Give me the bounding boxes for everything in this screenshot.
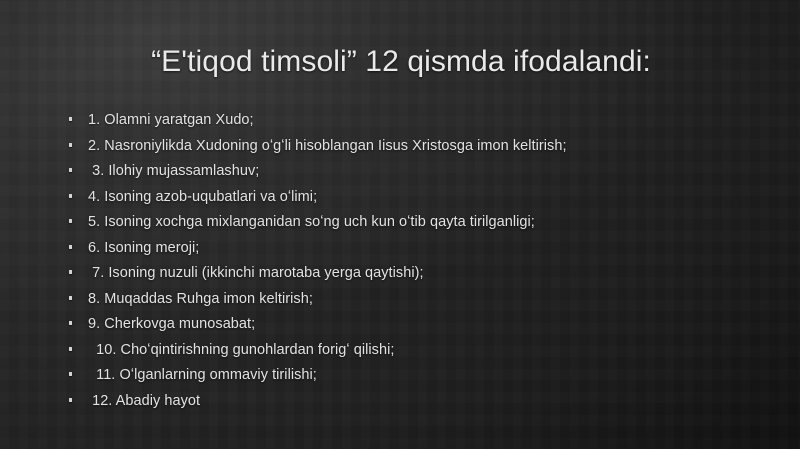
list-item-text: 6. Isoning meroji; — [88, 236, 199, 262]
list-item: 6. Isoning meroji; — [60, 236, 774, 262]
square-bullet-icon — [69, 270, 72, 274]
square-bullet-icon — [69, 194, 72, 198]
square-bullet-icon — [69, 245, 72, 249]
list-item-text: 11. Oʻlganlarning ommaviy tirilishi; — [88, 363, 317, 389]
list-item-text: 5. Isoning xochga mixlanganidan soʻng uc… — [88, 210, 535, 236]
list-item: 9. Cherkovga munosabat; — [60, 312, 774, 338]
list-item-text: 1. Olamni yaratgan Xudo; — [88, 108, 254, 134]
square-bullet-icon — [69, 321, 72, 325]
slide-title: “E'tiqod timsoli” 12 qismda ifodalandi: — [56, 44, 746, 79]
list-item-text: 2. Nasroniylikda Xudoning oʻgʻli hisobla… — [88, 134, 567, 160]
list-item: 5. Isoning xochga mixlanganidan soʻng uc… — [60, 210, 774, 236]
list-item: 8. Muqaddas Ruhga imon keltirish; — [60, 287, 774, 313]
square-bullet-icon — [69, 117, 72, 121]
list-item: 1. Olamni yaratgan Xudo; — [60, 108, 774, 134]
square-bullet-icon — [69, 219, 72, 223]
list-item-text: 4. Isoning azob-uqubatlari va oʻlimi; — [88, 185, 317, 211]
presentation-slide: “E'tiqod timsoli” 12 qismda ifodalandi: … — [0, 0, 800, 449]
square-bullet-icon — [69, 168, 72, 172]
list-item: 7. Isoning nuzuli (ikkinchi marotaba yer… — [60, 261, 774, 287]
list-item: 3. Ilohiy mujassamlashuv; — [60, 159, 774, 185]
list-item: 12. Abadiy hayot — [60, 389, 774, 415]
list-item-text: 3. Ilohiy mujassamlashuv; — [88, 159, 259, 185]
square-bullet-icon — [69, 347, 72, 351]
list-item: 2. Nasroniylikda Xudoning oʻgʻli hisobla… — [60, 134, 774, 160]
slide-bullet-list: 1. Olamni yaratgan Xudo; 2. Nasroniylikd… — [60, 108, 774, 414]
list-item: 4. Isoning azob-uqubatlari va oʻlimi; — [60, 185, 774, 211]
list-item: 10. Choʻqintirishning gunohlardan forigʻ… — [60, 338, 774, 364]
square-bullet-icon — [69, 296, 72, 300]
list-item-text: 10. Choʻqintirishning gunohlardan forigʻ… — [88, 338, 394, 364]
list-item-text: 8. Muqaddas Ruhga imon keltirish; — [88, 287, 313, 313]
list-item-text: 12. Abadiy hayot — [88, 389, 200, 415]
list-item: 11. Oʻlganlarning ommaviy tirilishi; — [60, 363, 774, 389]
list-item-text: 9. Cherkovga munosabat; — [88, 312, 255, 338]
square-bullet-icon — [69, 143, 72, 147]
square-bullet-icon — [69, 372, 72, 376]
square-bullet-icon — [69, 398, 72, 402]
list-item-text: 7. Isoning nuzuli (ikkinchi marotaba yer… — [88, 261, 424, 287]
